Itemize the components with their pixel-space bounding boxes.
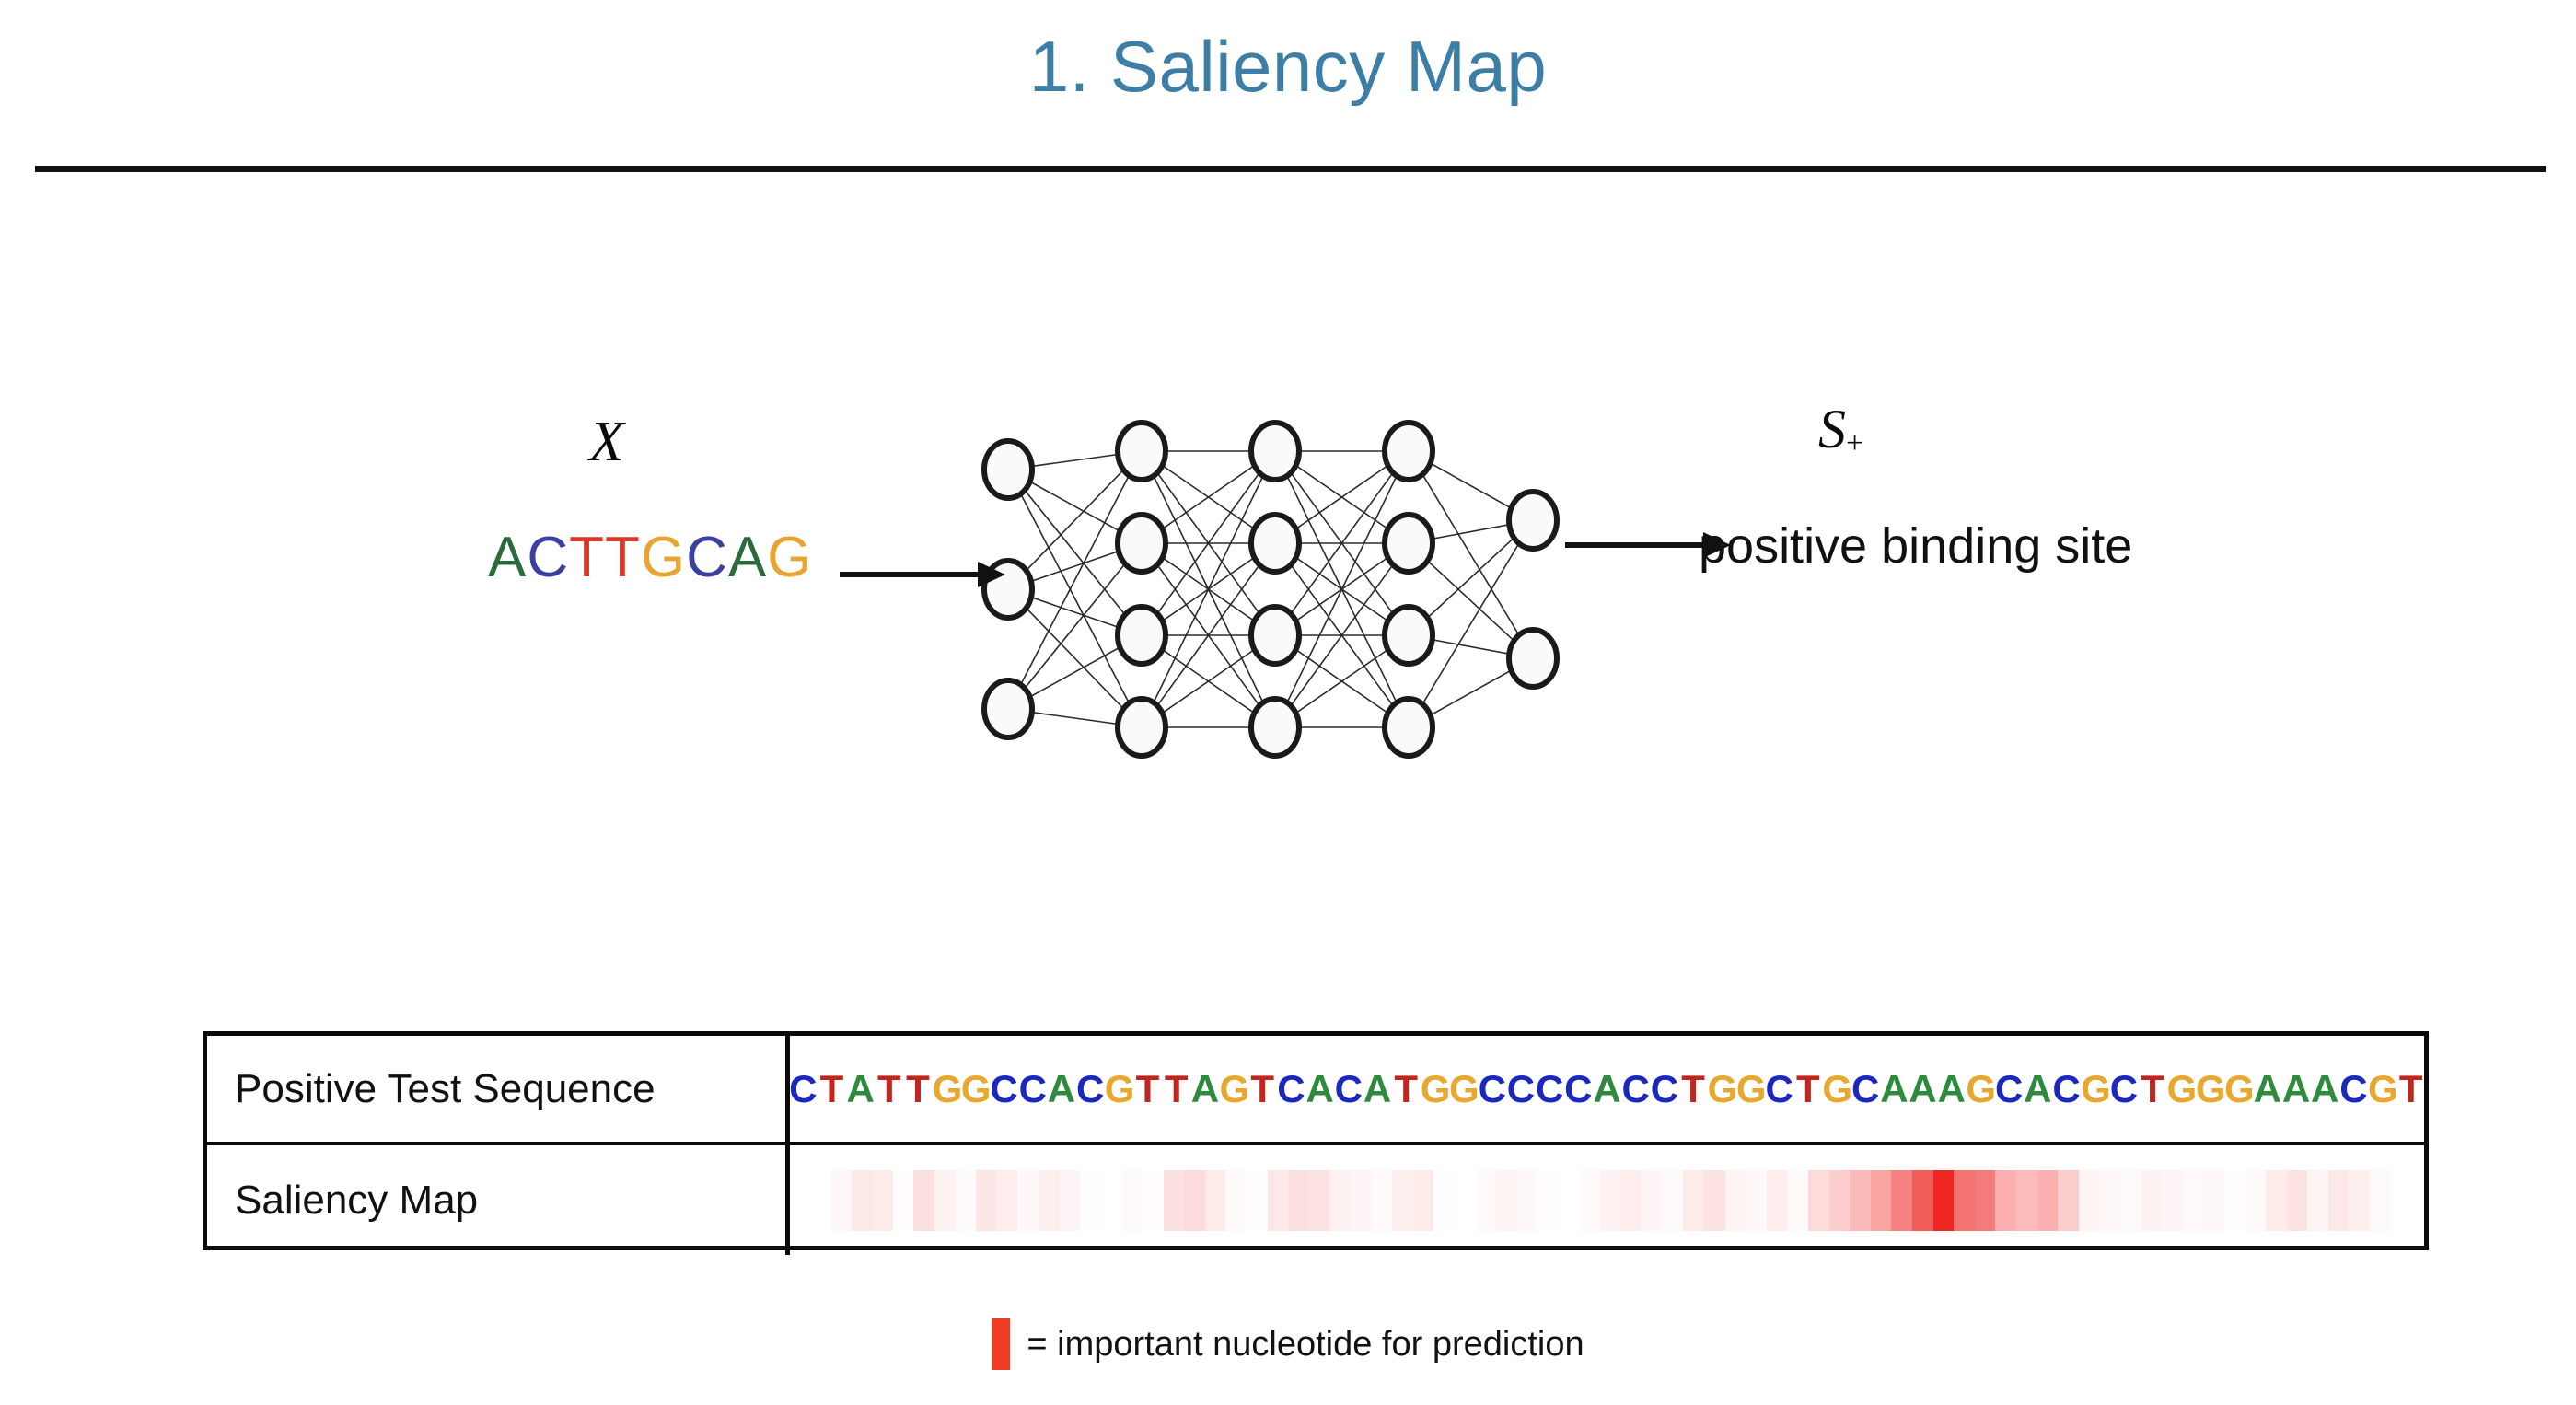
nucleotide-G: G bbox=[1966, 1070, 1994, 1109]
nucleotide-T: T bbox=[818, 1070, 846, 1109]
nucleotide-C: C bbox=[1277, 1070, 1305, 1109]
table-row: Positive Test Sequence TGCTCGCATCCTATTGG… bbox=[207, 1036, 2424, 1145]
nucleotide-C: C bbox=[2109, 1070, 2138, 1109]
saliency-cell-40 bbox=[1642, 1170, 1663, 1231]
nucleotide-G: G bbox=[1736, 1070, 1765, 1109]
nucleotide-C: C bbox=[990, 1070, 1018, 1109]
nucleotide-T: T bbox=[1162, 1070, 1190, 1109]
network-node-l1-n0 bbox=[1118, 423, 1166, 480]
nucleotide-C: C bbox=[1018, 1070, 1047, 1109]
nucleotide-G: G bbox=[1449, 1070, 1478, 1109]
output-score-label: S+ bbox=[1818, 398, 1863, 461]
saliency-cell-34 bbox=[1517, 1170, 1538, 1231]
saliency-cell-72 bbox=[2307, 1170, 2328, 1231]
network-node-l3-n1 bbox=[1385, 515, 1433, 572]
saliency-cell-21 bbox=[1247, 1170, 1268, 1231]
nucleotide-T: T bbox=[1248, 1070, 1277, 1109]
saliency-cell-74 bbox=[2349, 1170, 2370, 1231]
saliency-cell-71 bbox=[2287, 1170, 2308, 1231]
output-score-subscript: + bbox=[1846, 426, 1863, 460]
saliency-cell-43 bbox=[1704, 1170, 1725, 1231]
nucleotide-T: T bbox=[1678, 1070, 1707, 1109]
nucleotide-G: G bbox=[767, 526, 812, 589]
nucleotide-A: A bbox=[2311, 1070, 2339, 1109]
saliency-cell-19 bbox=[1205, 1170, 1226, 1231]
nucleotide-C: C bbox=[1334, 1070, 1363, 1109]
nucleotide-A: A bbox=[1937, 1070, 1966, 1109]
saliency-cell-53 bbox=[1912, 1170, 1933, 1231]
network-node-l2-n3 bbox=[1251, 699, 1299, 756]
saliency-cell-59 bbox=[2037, 1170, 2059, 1231]
nucleotide-A: A bbox=[728, 526, 767, 589]
nucleotide-T: T bbox=[1793, 1070, 1822, 1109]
nucleotide-C: C bbox=[1536, 1070, 1564, 1109]
nucleotide-A: A bbox=[488, 526, 527, 589]
output-description: positive binding site bbox=[1699, 517, 2132, 575]
nucleotide-C: C bbox=[1478, 1070, 1506, 1109]
saliency-cell-66 bbox=[2183, 1170, 2204, 1231]
saliency-cell-68 bbox=[2224, 1170, 2245, 1231]
nucleotide-C: C bbox=[2339, 1070, 2368, 1109]
saliency-cell-70 bbox=[2266, 1170, 2287, 1231]
row-label-positive-test-sequence: Positive Test Sequence bbox=[207, 1036, 790, 1142]
nucleotide-C: C bbox=[1621, 1070, 1650, 1109]
network-node-l3-n3 bbox=[1385, 699, 1433, 756]
saliency-cell-75 bbox=[2370, 1170, 2391, 1231]
nucleotide-C: C bbox=[1650, 1070, 1678, 1109]
nucleotide-G: G bbox=[1421, 1070, 1449, 1109]
nucleotide-G: G bbox=[2224, 1070, 2253, 1109]
nucleotide-G: G bbox=[2196, 1070, 2224, 1109]
title-divider bbox=[35, 166, 2546, 172]
saliency-cell-57 bbox=[1995, 1170, 2016, 1231]
nucleotide-C: C bbox=[1851, 1070, 1880, 1109]
saliency-cell-3 bbox=[872, 1170, 893, 1231]
saliency-cell-56 bbox=[1975, 1170, 1996, 1231]
saliency-cell-39 bbox=[1621, 1170, 1642, 1231]
saliency-cell-46 bbox=[1767, 1170, 1788, 1231]
saliency-cell-63 bbox=[2120, 1170, 2141, 1231]
saliency-cell-22 bbox=[1268, 1170, 1289, 1231]
saliency-cell-36 bbox=[1559, 1170, 1580, 1231]
nucleotide-G: G bbox=[1219, 1070, 1247, 1109]
saliency-cell-55 bbox=[1954, 1170, 1975, 1231]
nucleotide-G: G bbox=[1822, 1070, 1851, 1109]
nucleotide-C: C bbox=[1564, 1070, 1593, 1109]
nucleotide-T: T bbox=[605, 526, 641, 589]
saliency-cell-4 bbox=[893, 1170, 914, 1231]
saliency-cell-41 bbox=[1663, 1170, 1684, 1231]
saliency-cell-15 bbox=[1121, 1170, 1143, 1231]
nucleotide-T: T bbox=[875, 1070, 903, 1109]
saliency-cell-27 bbox=[1372, 1170, 1393, 1231]
model-diagram: X ACTTGCAG S+ positive binding site bbox=[0, 387, 2576, 810]
saliency-heatmap bbox=[810, 1170, 2412, 1231]
sequence-cell: TGCTCGCATCCTATTGGCCACGTTAGTCACATGGCCCCAC… bbox=[790, 1036, 2424, 1142]
nucleotide-A: A bbox=[1363, 1070, 1391, 1109]
saliency-cell-76 bbox=[2391, 1170, 2412, 1231]
saliency-cell-45 bbox=[1746, 1170, 1767, 1231]
network-node-l2-n1 bbox=[1251, 515, 1299, 572]
nucleotide-G: G bbox=[933, 1070, 961, 1109]
saliency-cell-73 bbox=[2328, 1170, 2350, 1231]
saliency-cell-12 bbox=[1060, 1170, 1081, 1231]
nucleotide-A: A bbox=[2253, 1070, 2281, 1109]
nucleotide-C: C bbox=[686, 526, 728, 589]
network-node-l3-n0 bbox=[1385, 423, 1433, 480]
saliency-cell-20 bbox=[1225, 1170, 1247, 1231]
nucleotide-C: C bbox=[1506, 1070, 1535, 1109]
saliency-cell-54 bbox=[1933, 1170, 1955, 1231]
saliency-cell-24 bbox=[1309, 1170, 1330, 1231]
saliency-cell-44 bbox=[1725, 1170, 1746, 1231]
nucleotide-G: G bbox=[2081, 1070, 2109, 1109]
nucleotide-G: G bbox=[1105, 1070, 1133, 1109]
network-node-l4-n1 bbox=[1509, 630, 1557, 687]
network-node-l2-n2 bbox=[1251, 607, 1299, 664]
network-node-l1-n2 bbox=[1118, 607, 1166, 664]
nucleotide-A: A bbox=[1909, 1070, 1937, 1109]
page-title: 1. Saliency Map bbox=[0, 26, 2576, 109]
saliency-cell-65 bbox=[2162, 1170, 2183, 1231]
right-arrow-icon bbox=[840, 556, 1005, 593]
saliency-cell-50 bbox=[1850, 1170, 1871, 1231]
saliency-cell-62 bbox=[2099, 1170, 2120, 1231]
saliency-cell-58 bbox=[2016, 1170, 2037, 1231]
saliency-cell-69 bbox=[2245, 1170, 2266, 1231]
nucleotide-A: A bbox=[2024, 1070, 2052, 1109]
dna-sequence-text: TGCTCGCATCCTATTGGCCACGTTAGTCACATGGCCCCAC… bbox=[790, 1070, 2424, 1109]
saliency-cell-5 bbox=[913, 1170, 934, 1231]
input-variable-label: X bbox=[589, 410, 624, 475]
saliency-cell-60 bbox=[2058, 1170, 2079, 1231]
saliency-cell-7 bbox=[956, 1170, 977, 1231]
nucleotide-T: T bbox=[1133, 1070, 1162, 1109]
nucleotide-C: C bbox=[1076, 1070, 1105, 1109]
network-node-l0-n0 bbox=[984, 441, 1032, 498]
saliency-cell-6 bbox=[934, 1170, 956, 1231]
saliency-cell-9 bbox=[997, 1170, 1018, 1231]
legend-color-swatch bbox=[992, 1318, 1010, 1370]
network-node-l1-n1 bbox=[1118, 515, 1166, 572]
nucleotide-A: A bbox=[2281, 1070, 2310, 1109]
saliency-cell-51 bbox=[1871, 1170, 1892, 1231]
saliency-cell-30 bbox=[1433, 1170, 1455, 1231]
saliency-cell-17 bbox=[1164, 1170, 1185, 1231]
saliency-cell-28 bbox=[1392, 1170, 1413, 1231]
nucleotide-C: C bbox=[1995, 1070, 2024, 1109]
nucleotide-T: T bbox=[2138, 1070, 2166, 1109]
legend: = important nucleotide for prediction bbox=[0, 1318, 2576, 1370]
saliency-cell-2 bbox=[852, 1170, 873, 1231]
saliency-cell-13 bbox=[1080, 1170, 1101, 1231]
saliency-cell-1 bbox=[830, 1170, 852, 1231]
saliency-cell-18 bbox=[1184, 1170, 1205, 1231]
saliency-cell-48 bbox=[1808, 1170, 1829, 1231]
saliency-cell-67 bbox=[2203, 1170, 2224, 1231]
saliency-cell-38 bbox=[1600, 1170, 1621, 1231]
saliency-cell-35 bbox=[1537, 1170, 1559, 1231]
network-node-l1-n3 bbox=[1118, 699, 1166, 756]
saliency-cell-33 bbox=[1496, 1170, 1517, 1231]
saliency-cell-25 bbox=[1329, 1170, 1351, 1231]
nucleotide-G: G bbox=[1708, 1070, 1736, 1109]
saliency-cell-49 bbox=[1829, 1170, 1851, 1231]
saliency-cell-16 bbox=[1143, 1170, 1164, 1231]
nucleotide-G: G bbox=[961, 1070, 990, 1109]
saliency-cell bbox=[790, 1145, 2424, 1255]
saliency-cell-29 bbox=[1413, 1170, 1434, 1231]
neural-network-diagram bbox=[981, 405, 1570, 773]
saliency-cell-31 bbox=[1455, 1170, 1476, 1231]
nucleotide-T: T bbox=[903, 1070, 932, 1109]
nucleotide-A: A bbox=[1880, 1070, 1909, 1109]
nucleotide-G: G bbox=[2368, 1070, 2396, 1109]
nucleotide-T: T bbox=[1392, 1070, 1421, 1109]
saliency-cell-42 bbox=[1683, 1170, 1704, 1231]
saliency-cell-26 bbox=[1351, 1170, 1372, 1231]
network-node-l0-n2 bbox=[984, 680, 1032, 737]
output-score-base: S bbox=[1818, 399, 1846, 459]
nucleotide-A: A bbox=[1047, 1070, 1075, 1109]
saliency-cell-64 bbox=[2141, 1170, 2163, 1231]
nucleotide-C: C bbox=[1765, 1070, 1793, 1109]
saliency-cell-23 bbox=[1288, 1170, 1309, 1231]
network-node-l4-n0 bbox=[1509, 492, 1557, 549]
nucleotide-A: A bbox=[1190, 1070, 1219, 1109]
results-table: Positive Test Sequence TGCTCGCATCCTATTGG… bbox=[203, 1031, 2429, 1250]
nucleotide-C: C bbox=[527, 526, 569, 589]
saliency-cell-47 bbox=[1787, 1170, 1808, 1231]
nucleotide-T: T bbox=[2396, 1070, 2424, 1109]
saliency-cell-8 bbox=[976, 1170, 997, 1231]
saliency-cell-32 bbox=[1476, 1170, 1497, 1231]
saliency-cell-10 bbox=[1017, 1170, 1039, 1231]
network-node-l3-n2 bbox=[1385, 607, 1433, 664]
nucleotide-A: A bbox=[846, 1070, 875, 1109]
nucleotide-T: T bbox=[569, 526, 605, 589]
table-row: Saliency Map bbox=[207, 1145, 2424, 1255]
nucleotide-C: C bbox=[790, 1070, 818, 1109]
saliency-cell-11 bbox=[1039, 1170, 1060, 1231]
nucleotide-G: G bbox=[2167, 1070, 2196, 1109]
saliency-cell-37 bbox=[1579, 1170, 1600, 1231]
legend-label: = important nucleotide for prediction bbox=[1027, 1325, 1584, 1364]
network-node-l2-n0 bbox=[1251, 423, 1299, 480]
saliency-cell-52 bbox=[1891, 1170, 1912, 1231]
row-label-saliency-map: Saliency Map bbox=[207, 1145, 790, 1255]
saliency-cell-0 bbox=[810, 1170, 831, 1231]
input-sequence-text: ACTTGCAG bbox=[488, 525, 813, 590]
saliency-cell-61 bbox=[2079, 1170, 2100, 1231]
nucleotide-C: C bbox=[2052, 1070, 2081, 1109]
nucleotide-A: A bbox=[1305, 1070, 1334, 1109]
saliency-cell-14 bbox=[1101, 1170, 1122, 1231]
nucleotide-G: G bbox=[641, 526, 686, 589]
right-arrow-icon bbox=[1565, 527, 1731, 563]
nucleotide-A: A bbox=[1593, 1070, 1621, 1109]
